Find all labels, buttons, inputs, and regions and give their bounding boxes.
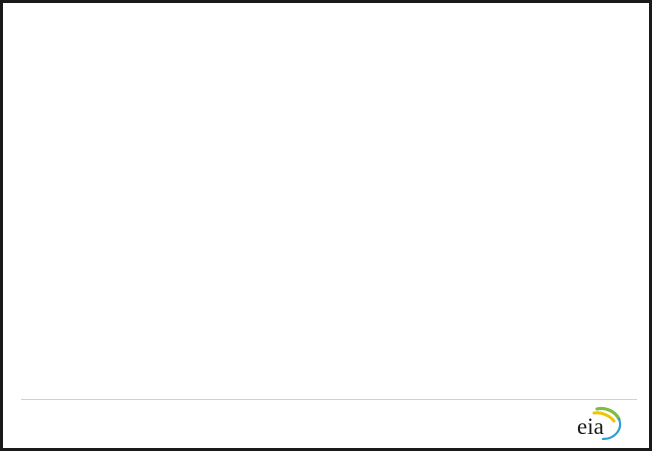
figure-frame: eia (0, 0, 652, 451)
footer-divider (21, 399, 637, 400)
plot-area (59, 125, 633, 333)
svg-text:eia: eia (577, 414, 604, 439)
y-axis (3, 125, 53, 333)
x-axis (59, 333, 633, 391)
eia-logo: eia (567, 401, 625, 441)
